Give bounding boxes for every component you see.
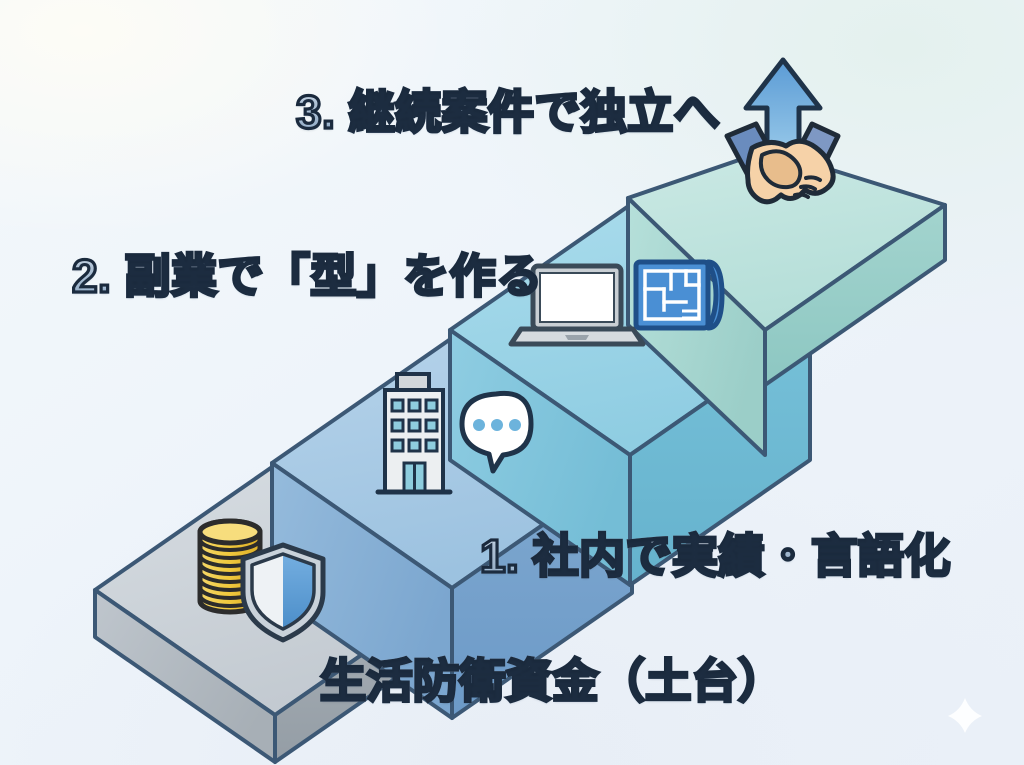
step-two-label: 2. 副業で「型」を作る [72,240,543,306]
blueprint-icon [636,262,722,328]
step-three-label: 3. 継続案件で独立へ [296,76,720,142]
office-building-icon [378,374,450,492]
step-foundation-label: 生活防衛資金（土台） [320,645,785,711]
sparkle-icon [948,698,982,733]
slide-canvas: 3. 継続案件で独立へ 2. 副業で「型」を作る 1. 社内で実績・言語化 生活… [0,0,1024,765]
step-one-label: 1. 社内で実績・言語化 [480,520,951,586]
